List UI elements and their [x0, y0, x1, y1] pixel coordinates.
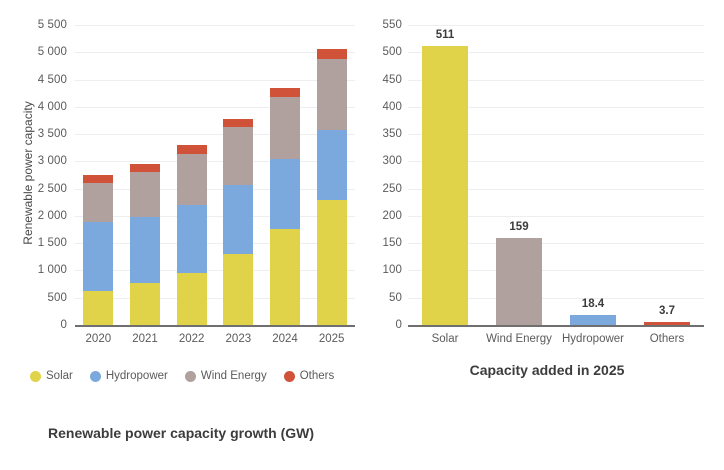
gridline: [75, 107, 355, 108]
left-x-axis-line: [75, 325, 355, 327]
y-axis-tick-label: 200: [383, 210, 403, 222]
stacked-bar[interactable]: [270, 88, 300, 325]
circle-swatch-icon: [185, 371, 196, 382]
gridline: [75, 243, 355, 244]
bar-segment-hydropower[interactable]: [223, 185, 253, 254]
bar-value-label: 511: [436, 29, 455, 41]
y-axis-tick-label: 4 000: [38, 101, 67, 113]
main-chart-title: Renewable power capacity growth (GW): [48, 425, 314, 441]
x-axis-tick-label: Hydropower: [562, 333, 624, 345]
x-axis-tick-label: 2020: [86, 333, 112, 345]
y-axis-tick-label: 500: [48, 292, 68, 304]
x-axis-tick-label: 2022: [179, 333, 205, 345]
legend-item-label: Wind Energy: [201, 370, 267, 382]
bar-segment-wind-energy[interactable]: [317, 59, 347, 130]
gridline: [75, 270, 355, 271]
stacked-bar[interactable]: [317, 49, 347, 325]
bar-segment-solar[interactable]: [83, 291, 113, 325]
stacked-bar[interactable]: [83, 175, 113, 325]
circle-swatch-icon: [30, 371, 41, 382]
bar-segment-wind-energy[interactable]: [83, 183, 113, 222]
gridline: [75, 216, 355, 217]
y-axis-tick-label: 250: [383, 183, 403, 195]
y-axis-tick-label: 350: [383, 128, 403, 140]
bar-segment-others[interactable]: [177, 145, 207, 153]
bar-segment-hydropower[interactable]: [270, 159, 300, 229]
y-axis-tick-label: 300: [383, 155, 403, 167]
bar-segment-hydropower[interactable]: [177, 205, 207, 273]
bar-segment-hydropower[interactable]: [130, 217, 160, 282]
legend-item[interactable]: Solar: [30, 370, 73, 382]
bar-segment-wind-energy[interactable]: [270, 97, 300, 159]
gridline: [75, 298, 355, 299]
y-axis-tick-label: 1 000: [38, 264, 67, 276]
bar-segment-solar[interactable]: [223, 254, 253, 325]
gridline: [75, 25, 355, 26]
y-axis-tick-label: 3 000: [38, 155, 67, 167]
bar-hydropower[interactable]: [570, 315, 616, 325]
bar-segment-others[interactable]: [130, 164, 160, 172]
x-axis-tick-label: Others: [650, 333, 685, 345]
stacked-bar[interactable]: [223, 119, 253, 325]
left-plot-area: [75, 25, 355, 325]
bar-segment-hydropower[interactable]: [317, 130, 347, 200]
legend: SolarHydropowerWind EnergyOthers: [30, 370, 343, 382]
capacity-added-chart: 050100150200250300350400450500550 SolarW…: [370, 0, 724, 400]
bar-segment-solar[interactable]: [130, 283, 160, 325]
gridline: [75, 189, 355, 190]
y-axis-tick-label: 2 500: [38, 183, 67, 195]
y-axis-tick-label: 100: [383, 264, 403, 276]
legend-item[interactable]: Others: [284, 370, 335, 382]
bar-segment-others[interactable]: [83, 175, 113, 183]
bar-segment-solar[interactable]: [270, 229, 300, 325]
y-axis-tick-label: 0: [61, 319, 68, 331]
bar-value-label: 3.7: [659, 305, 675, 317]
x-axis-tick-label: 2025: [319, 333, 345, 345]
chart-canvas: Renewable power capacity 05001 0001 5002…: [0, 0, 724, 470]
x-axis-tick-label: 2021: [132, 333, 158, 345]
bar-segment-hydropower[interactable]: [83, 222, 113, 292]
y-axis-tick-label: 450: [383, 74, 403, 86]
legend-item-label: Hydropower: [106, 370, 168, 382]
legend-item-label: Solar: [46, 370, 73, 382]
stacked-bar[interactable]: [177, 145, 207, 325]
cumulative-capacity-chart: Renewable power capacity 05001 0001 5002…: [0, 0, 370, 400]
y-axis-tick-label: 500: [383, 46, 403, 58]
x-axis-tick-label: 2024: [272, 333, 298, 345]
bar-wind-energy[interactable]: [496, 238, 542, 325]
bar-segment-others[interactable]: [317, 49, 347, 59]
y-axis-tick-label: 5 500: [38, 19, 67, 31]
legend-item[interactable]: Hydropower: [90, 370, 168, 382]
circle-swatch-icon: [284, 371, 295, 382]
gridline: [408, 25, 704, 26]
y-axis-tick-label: 50: [389, 292, 402, 304]
right-plot-area: [408, 25, 704, 325]
bar-value-label: 159: [509, 221, 528, 233]
y-axis-tick-label: 2 000: [38, 210, 67, 222]
bar-segment-solar[interactable]: [317, 200, 347, 325]
x-axis-tick-label: Solar: [432, 333, 459, 345]
bar-segment-wind-energy[interactable]: [223, 127, 253, 185]
gridline: [75, 134, 355, 135]
y-axis-tick-label: 400: [383, 101, 403, 113]
bar-segment-wind-energy[interactable]: [130, 172, 160, 217]
y-axis-tick-label: 1 500: [38, 237, 67, 249]
gridline: [75, 52, 355, 53]
circle-swatch-icon: [90, 371, 101, 382]
y-axis-tick-label: 4 500: [38, 74, 67, 86]
bar-segment-solar[interactable]: [177, 273, 207, 325]
bar-segment-others[interactable]: [223, 119, 253, 127]
y-axis-tick-label: 150: [383, 237, 403, 249]
stacked-bar[interactable]: [130, 164, 160, 325]
x-axis-tick-label: Wind Energy: [486, 333, 552, 345]
bar-segment-others[interactable]: [270, 88, 300, 97]
y-axis-tick-label: 5 000: [38, 46, 67, 58]
right-panel-title: Capacity added in 2025: [370, 362, 724, 378]
right-x-axis-line: [408, 325, 704, 327]
bar-value-label: 18.4: [582, 298, 604, 310]
y-axis-title-left: Renewable power capacity: [21, 83, 35, 263]
bar-solar[interactable]: [422, 46, 468, 325]
gridline: [75, 80, 355, 81]
legend-item-label: Others: [300, 370, 335, 382]
legend-item[interactable]: Wind Energy: [185, 370, 267, 382]
gridline: [75, 161, 355, 162]
y-axis-tick-label: 550: [383, 19, 403, 31]
bar-segment-wind-energy[interactable]: [177, 154, 207, 205]
y-axis-tick-label: 0: [396, 319, 403, 331]
y-axis-tick-label: 3 500: [38, 128, 67, 140]
x-axis-tick-label: 2023: [226, 333, 252, 345]
